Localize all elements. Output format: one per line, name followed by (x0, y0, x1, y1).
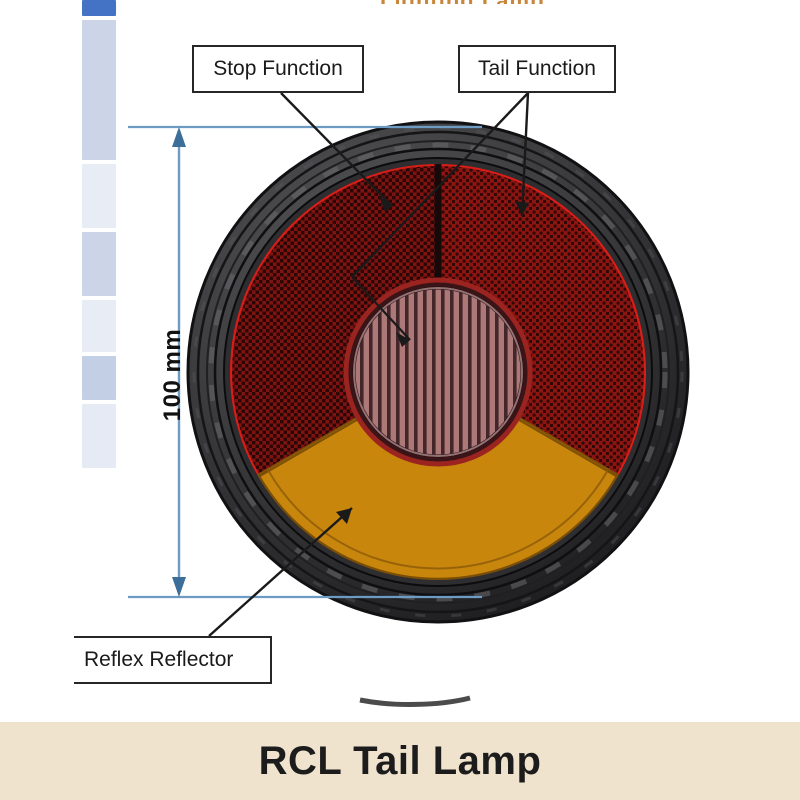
caption-title: RCL Tail Lamp (259, 739, 542, 784)
leader-line-hub (352, 277, 410, 340)
callout-tail-label: Tail Function (478, 57, 596, 81)
slide-canvas: Lighting Lamp (0, 0, 800, 800)
callout-reflex-reflector[interactable]: Reflex Reflector (74, 636, 272, 684)
leader-arrow-tail-a (515, 201, 529, 216)
caption-bar: RCL Tail Lamp (0, 722, 800, 800)
leader-line-reflex (209, 508, 352, 636)
dimension-label: 100 mm (153, 320, 193, 430)
leader-line-tail-a (522, 93, 528, 216)
callout-stop-function[interactable]: Stop Function (192, 45, 364, 93)
callout-stop-label: Stop Function (213, 57, 343, 81)
leader-line-stop (281, 93, 392, 206)
callout-tail-function[interactable]: Tail Function (458, 45, 616, 93)
leader-line-tail-b (352, 93, 528, 277)
leader-arrow-hub (396, 332, 410, 347)
callout-reflex-label: Reflex Reflector (84, 648, 233, 672)
